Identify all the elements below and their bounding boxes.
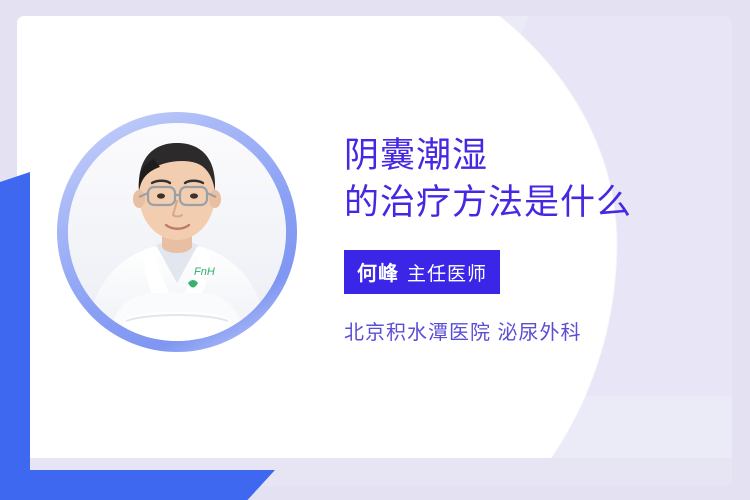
doctor-title: 主任医师 — [407, 264, 487, 285]
avatar: FnH — [57, 112, 297, 352]
cover-title: 阴囊潮湿的治疗方法是什么 — [344, 132, 704, 226]
svg-text:FnH: FnH — [194, 266, 215, 278]
doctor-affiliation: 北京积水潭医院 泌尿外科 — [344, 316, 704, 345]
accent-bar-bottom — [0, 470, 275, 500]
accent-bar-left — [0, 172, 30, 500]
text-column: 阴囊潮湿的治疗方法是什么 何峰主任医师 北京积水潭医院 泌尿外科 — [344, 132, 704, 345]
cover-title-line1: 阴囊潮湿 — [344, 136, 488, 175]
avatar-photo: FnH — [68, 123, 286, 341]
cover-title-line2: 的治疗方法是什么 — [344, 183, 632, 222]
doctor-portrait-icon: FnH — [68, 123, 286, 341]
doctor-name: 何峰 — [357, 263, 399, 285]
video-cover: FnH 阴囊潮湿的治疗方法是什么 何峰主任医师 北京积水潭医院 泌尿外科 — [0, 0, 750, 500]
doctor-badge: 何峰主任医师 — [344, 250, 500, 294]
